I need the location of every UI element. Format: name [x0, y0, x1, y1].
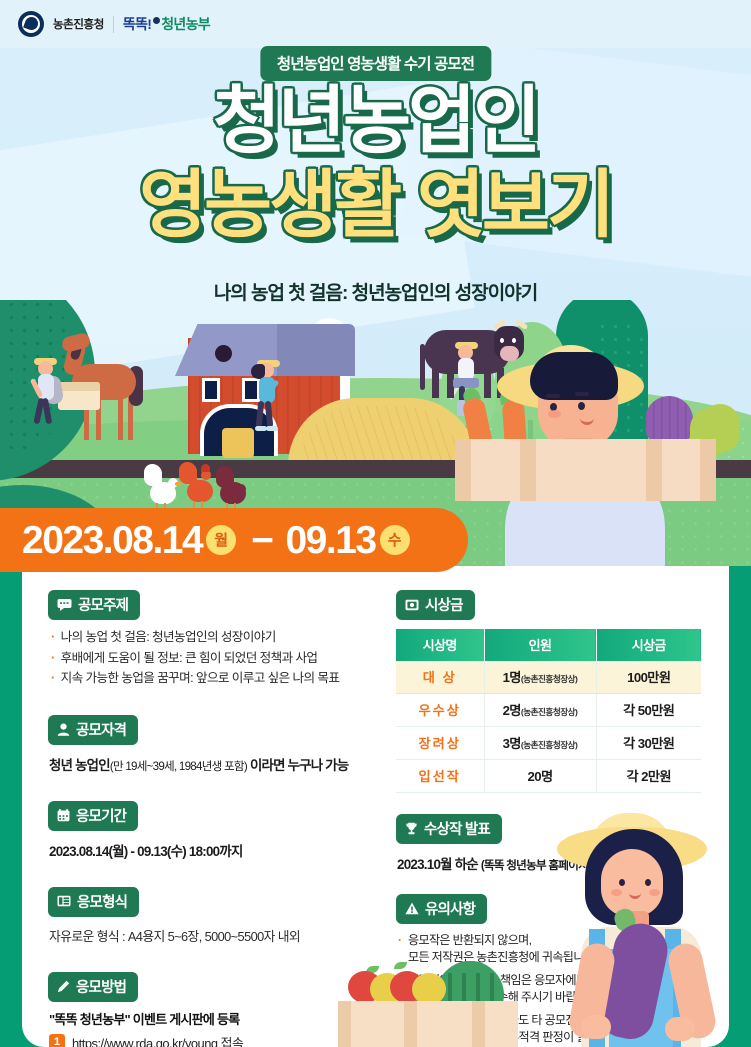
- eligibility-note: (만 19세~39세, 1984년생 포함): [110, 760, 247, 773]
- section-period: 응모기간 2023.08.14(월) - 09.13(수) 18:00까지: [48, 801, 378, 860]
- poster: 농촌진흥청 똑똑! 청년농부 청년농업인 영농생활 수기 공모전 청년농업인 영…: [0, 0, 751, 1047]
- prize-count: 2명(농촌진흥청장상): [484, 694, 596, 727]
- announcement-note: (똑똑 청년농부 홈페이지 발표 및 개별통보): [481, 859, 668, 872]
- badge-notice-label: 유의사항: [425, 898, 475, 919]
- table-row: 우수상 2명(농촌진흥청장상) 각 50만원: [396, 694, 701, 727]
- announcement-date: 2023.10월 하순: [397, 857, 478, 872]
- logo-row: 농촌진흥청 똑똑! 청년농부: [18, 9, 210, 39]
- prize-amount: 각 30만원: [596, 727, 701, 760]
- prize-count: 20명: [484, 760, 596, 793]
- fruit-box-front: [338, 1001, 518, 1047]
- farmer-cheek: [548, 410, 561, 418]
- farmer-brow-left: [546, 394, 560, 398]
- money-icon: [405, 599, 419, 611]
- prize-amount: 각 2만원: [596, 760, 701, 793]
- step-text[interactable]: https://www.rda.go.kr/young 접속: [72, 1033, 243, 1047]
- farmer-brow-right: [575, 392, 589, 396]
- badge-eligibility: 공모자격: [48, 715, 138, 745]
- badge-topic: 공모주제: [48, 590, 140, 620]
- prize-col-amount: 시상금: [596, 629, 701, 661]
- title-line-2: 영농생활 엿보기: [0, 166, 751, 244]
- badge-announcement-label: 수상작 발표: [424, 818, 490, 839]
- eligibility-bold-1: 청년 농업인: [49, 758, 110, 773]
- section-format: 응모형식 자유로운 형식 : A4용지 5~6장, 5000~5500자 내외: [48, 887, 378, 945]
- prize-name: 우수상: [396, 694, 484, 727]
- section-eligibility: 공모자격 청년 농업인(만 19세~39세, 1984년생 포함) 이라면 누구…: [48, 715, 378, 774]
- eligibility-bold-2: 이라면 누구나 가능: [250, 758, 349, 773]
- person-carrying-sack: [20, 354, 68, 424]
- crate-slat-2: [520, 439, 536, 501]
- calendar-icon: [57, 809, 70, 822]
- badge-method: 응모방법: [48, 972, 138, 1002]
- method-step: 1https://www.rda.go.kr/young 접속: [49, 1033, 378, 1047]
- badge-eligibility-label: 공모자격: [76, 719, 126, 740]
- watermelon-stripe-2: [462, 973, 466, 1003]
- badge-topic-label: 공모주제: [78, 594, 128, 615]
- badge-prize: 시상금: [396, 590, 475, 620]
- vertical-divider-icon: [113, 16, 114, 33]
- section-method: 응모방법 "똑똑 청년농부" 이벤트 게시판에 등록 1https://www.…: [48, 972, 378, 1047]
- prize-amount: 100만원: [596, 661, 701, 694]
- method-steps: "똑똑 청년농부" 이벤트 게시판에 등록 1https://www.rda.g…: [49, 1009, 378, 1047]
- badge-format-label: 응모형식: [77, 891, 127, 912]
- step-number: 1: [49, 1034, 65, 1047]
- topic-item: ·나의 농업 첫 걸음: 청년농업인의 성장이야기: [51, 628, 378, 647]
- topic-list: ·나의 농업 첫 걸음: 청년농업인의 성장이야기 ·후배에게 도움이 될 정보…: [51, 628, 378, 688]
- start-date: 2023.08.14: [22, 521, 202, 560]
- prize-count: 1명(농촌진흥청장상): [484, 661, 596, 694]
- table-row: 장려상 3명(농촌진흥청장상) 각 30만원: [396, 727, 701, 760]
- eligibility-text: 청년 농업인(만 19세~39세, 1984년생 포함) 이라면 누구나 가능: [49, 754, 378, 774]
- bullet-dot-icon: ·: [51, 628, 55, 647]
- badge-announcement: 수상작 발표: [396, 814, 502, 844]
- fruit-box-illustration: [332, 955, 532, 1047]
- details-card: 공모주제 ·나의 농업 첫 걸음: 청년농업인의 성장이야기 ·후배에게 도움이…: [22, 566, 729, 1047]
- period-text: 2023.08.14(월) - 09.13(수) 18:00까지: [49, 840, 378, 860]
- trophy-icon: [405, 822, 418, 835]
- prize-col-count: 인원: [484, 629, 596, 661]
- table-row: 대 상 1명(농촌진흥청장상) 100만원: [396, 661, 701, 694]
- farmer-hair: [530, 352, 618, 400]
- period-value: 2023.08.14(월) - 09.13(수) 18:00까지: [49, 844, 243, 859]
- bullet-dot-icon: ·: [51, 669, 55, 688]
- date-banner: 2023.08.14 월 − 09.13 수: [0, 508, 468, 572]
- crate-slat-1: [455, 439, 471, 501]
- prize-table: 시상명 인원 시상금 대 상 1명(농촌진흥청장상) 100만원: [396, 629, 701, 793]
- topic-item: ·지속 가능한 농업을 꿈꾸며: 앞으로 이루고 싶은 나의 목표: [51, 669, 378, 688]
- person-icon: [57, 723, 70, 736]
- warning-triangle-icon: [405, 902, 419, 915]
- section-topic: 공모주제 ·나의 농업 첫 걸음: 청년농업인의 성장이야기 ·후배에게 도움이…: [48, 590, 378, 688]
- announcement-text: 2023.10월 하순 (똑똑 청년농부 홈페이지 발표 및 개별통보): [397, 853, 706, 873]
- badge-notice: 유의사항: [396, 894, 487, 924]
- table-icon: [57, 895, 71, 907]
- brand-prefix: 똑똑!: [123, 14, 151, 34]
- barn-vent-icon: [215, 345, 232, 362]
- date-separator: −: [251, 521, 272, 560]
- farmer-eye-right: [578, 402, 585, 410]
- table-row: 입선작 20명 각 2만원: [396, 760, 701, 793]
- fruit-box-slat-2: [404, 1001, 417, 1047]
- end-date: 09.13: [285, 521, 375, 560]
- prize-name: 입선작: [396, 760, 484, 793]
- topic-item-text: 지속 가능한 농업을 꿈꾸며: 앞으로 이루고 싶은 나의 목표: [61, 669, 340, 688]
- contest-ribbon: 청년농업인 영농생활 수기 공모전: [260, 46, 491, 81]
- fruit-box-slat-3: [472, 1001, 485, 1047]
- section-announcement: 수상작 발표 2023.10월 하순 (똑똑 청년농부 홈페이지 발표 및 개별…: [396, 814, 706, 873]
- badge-period-label: 응모기간: [76, 805, 126, 826]
- section-prize: 시상금 시상명 인원 시상금 대: [396, 590, 706, 793]
- prize-amount: 각 50만원: [596, 694, 701, 727]
- barn-window-left: [202, 378, 220, 402]
- format-text: 자유로운 형식 : A4용지 5~6장, 5000~5500자 내외: [49, 926, 378, 945]
- start-day-chip: 월: [206, 525, 236, 555]
- watermelon-stripe-1: [448, 973, 452, 1003]
- topic-item: ·후배에게 도움이 될 정보: 큰 힘이 되었던 정책과 사업: [51, 649, 378, 668]
- crate-slat-4: [700, 439, 716, 501]
- farmer-with-rake: [245, 358, 315, 442]
- fruit-box-slat-1: [338, 1001, 351, 1047]
- brand-main: 청년농부: [161, 14, 210, 34]
- prize-name: 대 상: [396, 661, 484, 694]
- korea-government-emblem-icon: [18, 11, 44, 37]
- topic-item-text: 나의 농업 첫 걸음: 청년농업인의 성장이야기: [61, 628, 276, 647]
- badge-prize-label: 시상금: [425, 594, 463, 615]
- crate-slat-3: [646, 439, 662, 501]
- prize-name: 장려상: [396, 727, 484, 760]
- watermelon-stripe-3: [476, 973, 480, 1003]
- prize-col-name: 시상명: [396, 629, 484, 661]
- method-title: "똑똑 청년농부" 이벤트 게시판에 등록: [49, 1009, 378, 1028]
- brand-dot-icon: [153, 17, 160, 24]
- prize-table-header-row: 시상명 인원 시상금: [396, 629, 701, 661]
- brand-logo: 똑똑! 청년농부: [123, 14, 210, 34]
- badge-period: 응모기간: [48, 801, 138, 831]
- topic-item-text: 후배에게 도움이 될 정보: 큰 힘이 되었던 정책과 사업: [61, 649, 318, 668]
- vegetable-crate: [455, 439, 715, 501]
- date-range-text: 2023.08.14 월 − 09.13 수: [22, 521, 412, 560]
- bullet-dot-icon: ·: [51, 649, 55, 668]
- pencil-icon: [57, 980, 70, 993]
- title-line-1: 청년농업인: [0, 82, 751, 160]
- agency-name: 농촌진흥청: [53, 16, 104, 32]
- speech-bubble-icon: [57, 598, 72, 611]
- badge-format: 응모형식: [48, 887, 139, 917]
- end-day-chip: 수: [380, 525, 410, 555]
- apple-leaf-2: [394, 962, 407, 969]
- left-column: 공모주제 ·나의 농업 첫 걸음: 청년농업인의 성장이야기 ·후배에게 도움이…: [48, 590, 378, 1047]
- badge-method-label: 응모방법: [76, 976, 126, 997]
- prize-count: 3명(농촌진흥청장상): [484, 727, 596, 760]
- watermelon-stripe-4: [490, 973, 494, 1003]
